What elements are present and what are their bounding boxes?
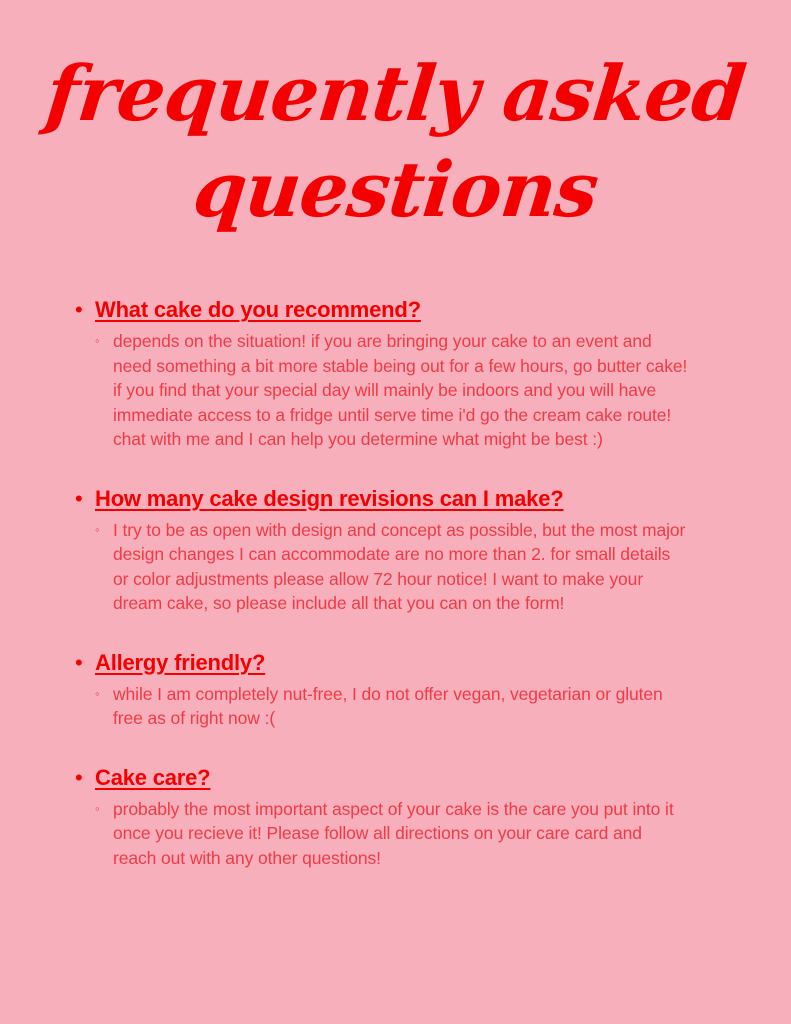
- faq-answer-row: ◦ probably the most important aspect of …: [70, 797, 695, 871]
- faq-question-row: • Cake care?: [70, 761, 695, 794]
- faq-item: • Allergy friendly? ◦ while I am complet…: [70, 646, 695, 731]
- faq-item: • Cake care? ◦ probably the most importa…: [70, 761, 695, 871]
- faq-answer: I try to be as open with design and conc…: [113, 518, 688, 616]
- disc-bullet-icon: •: [70, 761, 95, 794]
- faq-item: • What cake do you recommend? ◦ depends …: [70, 293, 695, 452]
- faq-question-row: • Allergy friendly?: [70, 646, 695, 679]
- circle-bullet-icon: ◦: [95, 329, 113, 354]
- faq-question: How many cake design revisions can I mak…: [95, 482, 695, 515]
- faq-answer-row: ◦ depends on the situation! if you are b…: [70, 329, 695, 452]
- disc-bullet-icon: •: [70, 482, 95, 515]
- faq-question-row: • How many cake design revisions can I m…: [70, 482, 695, 515]
- faq-page: frequently asked questions • What cake d…: [0, 0, 791, 1024]
- faq-list: • What cake do you recommend? ◦ depends …: [70, 293, 695, 870]
- disc-bullet-icon: •: [70, 646, 95, 679]
- faq-question: What cake do you recommend?: [95, 293, 695, 326]
- circle-bullet-icon: ◦: [95, 518, 113, 543]
- faq-question-row: • What cake do you recommend?: [70, 293, 695, 326]
- disc-bullet-icon: •: [70, 293, 95, 326]
- faq-question: Allergy friendly?: [95, 646, 695, 679]
- faq-answer: depends on the situation! if you are bri…: [113, 329, 688, 452]
- circle-bullet-icon: ◦: [95, 797, 113, 822]
- circle-bullet-icon: ◦: [95, 682, 113, 707]
- faq-answer: probably the most important aspect of yo…: [113, 797, 688, 871]
- page-title: frequently asked questions: [0, 56, 791, 228]
- faq-answer: while I am completely nut-free, I do not…: [113, 682, 688, 731]
- page-title-line-2: questions: [0, 152, 791, 228]
- page-title-line-1: frequently asked: [0, 56, 791, 132]
- faq-question: Cake care?: [95, 761, 695, 794]
- faq-answer-row: ◦ while I am completely nut-free, I do n…: [70, 682, 695, 731]
- faq-answer-row: ◦ I try to be as open with design and co…: [70, 518, 695, 616]
- faq-item: • How many cake design revisions can I m…: [70, 482, 695, 616]
